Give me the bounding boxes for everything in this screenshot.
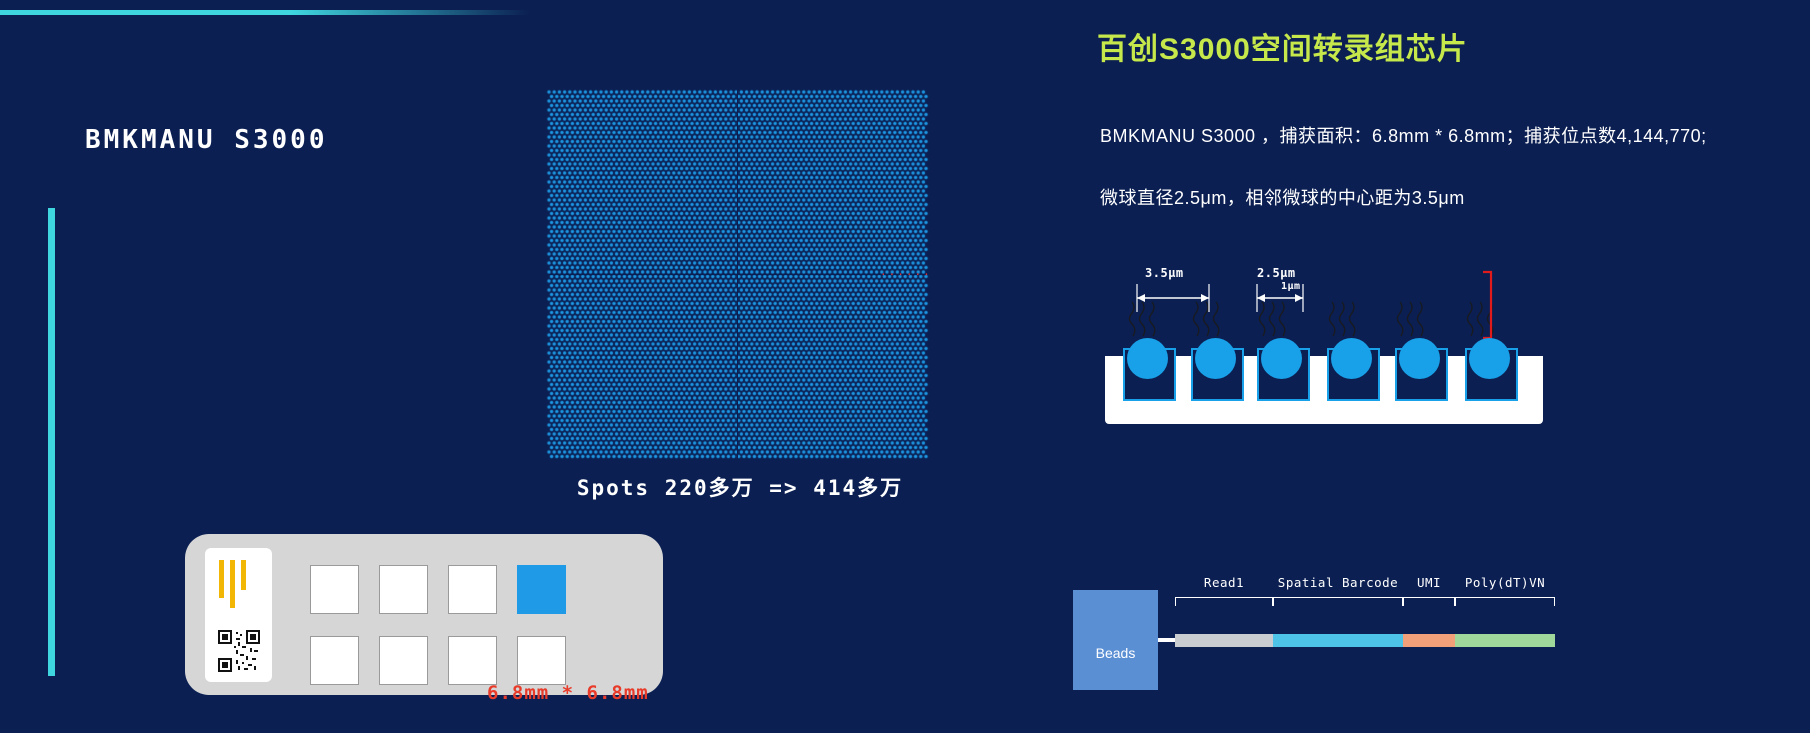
bead-body-label: Beads <box>1073 645 1158 661</box>
diameter-dimension-label: 2.5μm <box>1257 266 1296 280</box>
bead-5 <box>1399 338 1440 379</box>
bead-1 <box>1127 338 1168 379</box>
right-spec-line-1: BMKMANU S3000 ，捕获面积：6.8mm * 6.8mm；捕获位点数4… <box>1100 122 1707 148</box>
oligo-bracket-1 <box>1175 597 1273 606</box>
right-title: 百创S3000空间转录组芯片 <box>1097 24 1468 68</box>
bead-substrate-diagram: 3.5μm 2.5μm 1µm <box>1105 250 1545 450</box>
spot-array-chip <box>545 88 930 460</box>
oligo-segment-label-2: Spatial Barcode <box>1273 575 1403 590</box>
chip-size-label: 6.8mm * 6.8mm <box>487 682 649 704</box>
product-title: BMKMANU S3000 <box>85 125 328 155</box>
well-8[interactable] <box>517 636 566 685</box>
right-spec-line-2: 微球直径2.5μm，相邻微球的中心距为3.5μm <box>1100 184 1465 210</box>
well-2[interactable] <box>379 565 428 614</box>
bead-oligo-structure: Beads Read1Spatial BarcodeUMIPoly(dT)VN <box>1073 575 1593 685</box>
bead-3 <box>1261 338 1302 379</box>
oligo-bracket-2 <box>1273 597 1403 606</box>
well-3[interactable] <box>448 565 497 614</box>
oligo-bracket-4 <box>1455 597 1555 606</box>
well-7[interactable] <box>448 636 497 685</box>
oligo-segment-4 <box>1455 634 1555 647</box>
well-1[interactable] <box>310 565 359 614</box>
well-4[interactable] <box>517 565 566 614</box>
top-accent-bar <box>0 10 530 15</box>
well-5[interactable] <box>310 636 359 685</box>
red-dots-marker: ...... <box>880 265 932 278</box>
oligo-segment-label-3: UMI <box>1403 575 1455 590</box>
bead-4 <box>1331 338 1372 379</box>
left-accent-bar <box>48 208 55 676</box>
bead-2 <box>1195 338 1236 379</box>
oligo-segment-3 <box>1403 634 1455 647</box>
slide-root: BMKMANU S3000 ...... Spots 220多万 => 414多… <box>0 0 1810 733</box>
oligo-segment-label-1: Read1 <box>1175 575 1273 590</box>
qr-code-icon <box>218 630 260 672</box>
chip-divider-horizontal <box>545 274 930 275</box>
well-6[interactable] <box>379 636 428 685</box>
cartridge-label-area <box>205 548 272 682</box>
oligo-segment-1 <box>1175 634 1273 647</box>
oligo-stem <box>1158 638 1175 642</box>
pitch-dimension-label: 3.5μm <box>1145 266 1184 280</box>
small-dimension-label: 1µm <box>1281 281 1301 292</box>
bead-6 <box>1469 338 1510 379</box>
oligo-segment-2 <box>1273 634 1403 647</box>
barcode-icon <box>217 560 262 608</box>
slide-cartridge <box>185 534 663 695</box>
oligo-segment-label-4: Poly(dT)VN <box>1455 575 1555 590</box>
bead-body <box>1073 590 1158 690</box>
oligo-bracket-3 <box>1403 597 1455 606</box>
spots-count-label: Spots 220多万 => 414多万 <box>560 472 920 502</box>
